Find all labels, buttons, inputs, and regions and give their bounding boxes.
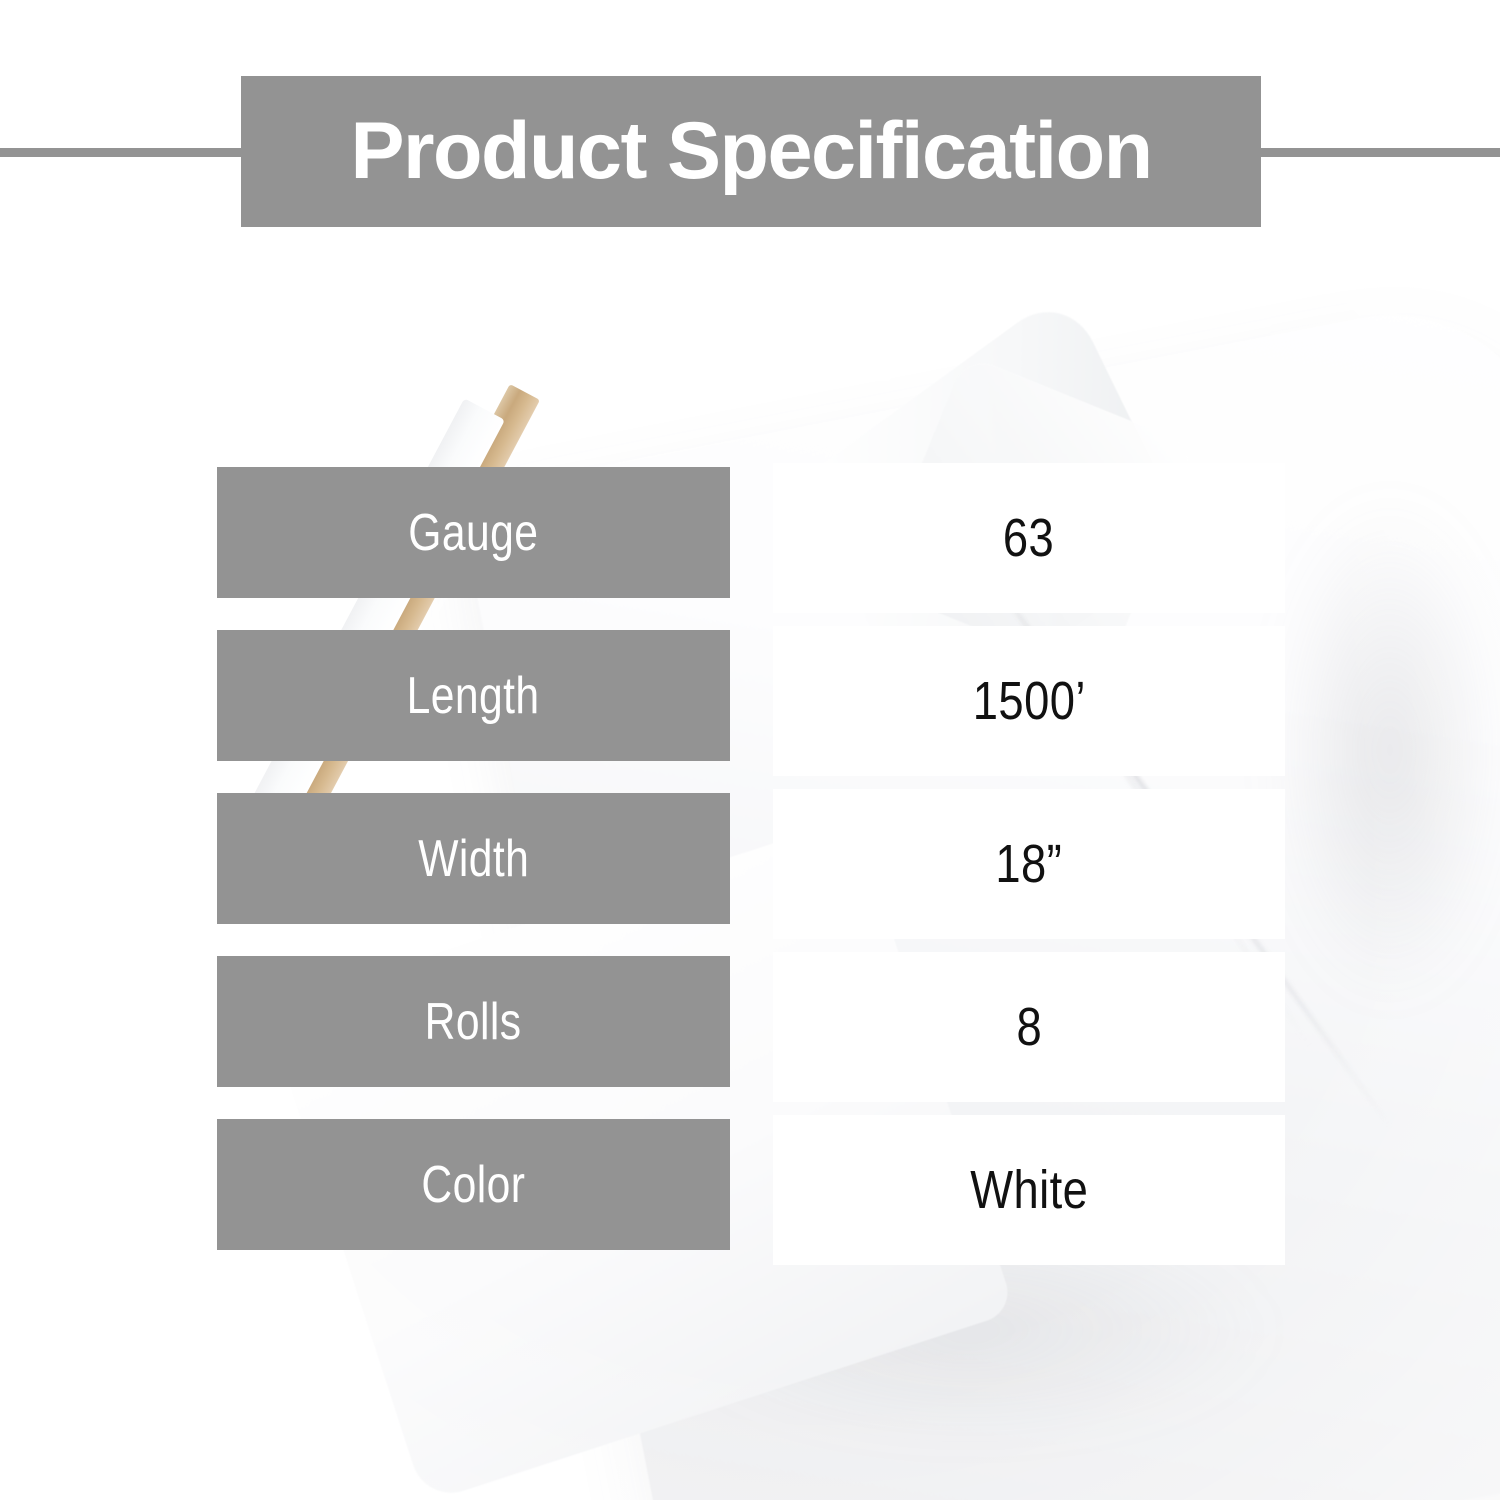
header-rule-left (0, 148, 246, 157)
header-rule-right (1256, 148, 1500, 157)
spec-label-cell-rolls: Rolls (217, 956, 730, 1087)
spec-value-cell-width: 18” (773, 789, 1285, 939)
spec-value-cell-color: White (773, 1115, 1285, 1265)
page-title: Product Specification (350, 111, 1151, 192)
spec-label-cell-width: Width (217, 793, 730, 924)
spec-value-text: 1500’ (972, 674, 1085, 728)
table-row: Width 18” (217, 793, 1285, 924)
spec-label-text: Length (407, 670, 540, 722)
table-row: Length 1500’ (217, 630, 1285, 761)
spec-label-text: Rolls (425, 996, 522, 1048)
spec-value-text: White (970, 1163, 1088, 1217)
spec-value-text: 8 (1016, 1000, 1042, 1054)
table-row: Color White (217, 1119, 1285, 1250)
spec-value-cell-gauge: 63 (773, 463, 1285, 613)
title-box: Product Specification (241, 76, 1261, 227)
spec-label-cell-color: Color (217, 1119, 730, 1250)
table-row: Gauge 63 (217, 467, 1285, 598)
spec-value-text: 18” (996, 837, 1063, 891)
spec-value-cell-length: 1500’ (773, 626, 1285, 776)
spec-label-text: Color (422, 1159, 526, 1211)
spec-value-text: 63 (1003, 511, 1054, 565)
table-row: Rolls 8 (217, 956, 1285, 1087)
spec-label-cell-length: Length (217, 630, 730, 761)
spec-label-text: Gauge (408, 507, 538, 559)
spec-value-cell-rolls: 8 (773, 952, 1285, 1102)
product-specification-graphic: Product Specification Gauge 63 Length 15… (0, 0, 1500, 1500)
spec-label-cell-gauge: Gauge (217, 467, 730, 598)
specification-table: Gauge 63 Length 1500’ Width 18” Rol (217, 467, 1285, 1250)
header-banner: Product Specification (0, 0, 1500, 300)
spec-label-text: Width (418, 833, 529, 885)
